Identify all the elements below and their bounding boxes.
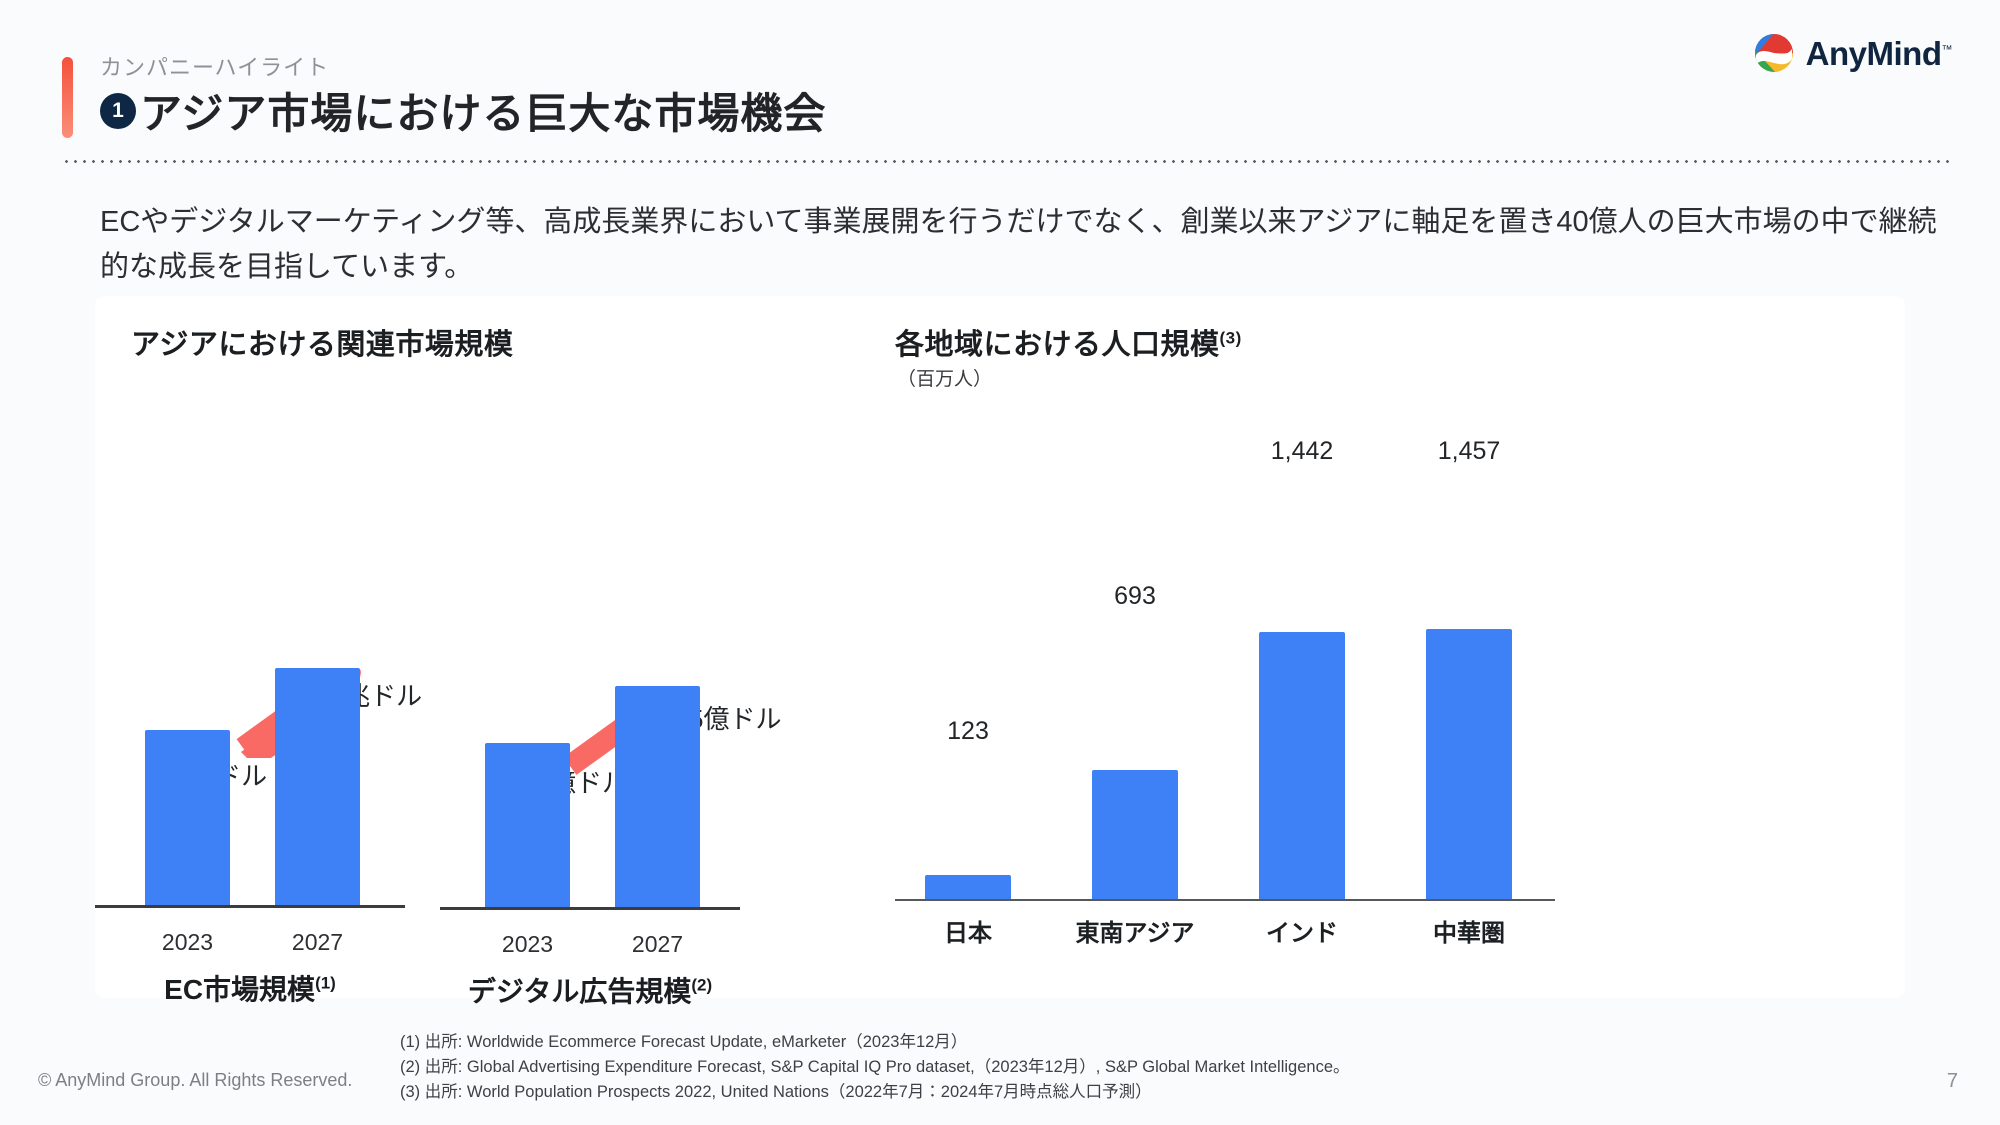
page-title-text: アジア市場における巨大な市場機会 bbox=[140, 80, 826, 141]
chart-caption-text: EC市場規模 bbox=[164, 974, 315, 1005]
x-tick-label: インド bbox=[1249, 913, 1355, 948]
footnote-item: (2) 出所: Global Advertising Expenditure F… bbox=[400, 1055, 1350, 1080]
slide-root: カンパニーハイライト 1 アジア市場における巨大な市場機会 AnyMind™ bbox=[0, 0, 2000, 1125]
page-number: 7 bbox=[1947, 1070, 1958, 1093]
section-number-badge: 1 bbox=[100, 93, 136, 129]
x-tick-label: 東南アジア bbox=[1072, 913, 1198, 948]
header-divider bbox=[62, 160, 1952, 163]
chart-population-by-region: 123 693 1,442 1,457 日本 東南アジア インド 中華圏 bbox=[895, 376, 1655, 996]
bar-2027 bbox=[615, 686, 700, 908]
page-title: 1 アジア市場における巨大な市場機会 bbox=[100, 80, 826, 141]
chart-caption: EC市場規模(1) bbox=[95, 968, 405, 1008]
anymind-logo-text: AnyMind™ bbox=[1806, 37, 1952, 70]
footnote-item: (1) 出所: Worldwide Ecommerce Forecast Upd… bbox=[400, 1030, 1350, 1055]
bar-southeast-asia bbox=[1092, 770, 1178, 899]
lead-paragraph: ECやデジタルマーケティング等、高成長業界において事業展開を行うだけでなく、創業… bbox=[100, 200, 1940, 290]
bar-india bbox=[1259, 632, 1345, 899]
x-tick-label: 2027 bbox=[275, 929, 360, 956]
x-tick-label: 2027 bbox=[615, 931, 700, 958]
chart-caption-superscript: (2) bbox=[691, 976, 712, 995]
content-card: アジアにおける関連市場規模 各地域における人口規模(3) （百万人） 3.5兆ド… bbox=[95, 296, 1905, 998]
x-axis-line bbox=[95, 905, 405, 908]
chart-ec-market-size: 3.5兆ドル 4.8兆ドル 2023 2027 EC市場規模(1) bbox=[95, 296, 455, 996]
bar-value-label: 123 bbox=[913, 717, 1023, 746]
x-tick-label: 2023 bbox=[145, 929, 230, 956]
bar-greater-china bbox=[1426, 629, 1512, 899]
title-accent-bar bbox=[62, 57, 73, 138]
chart-digital-ad-size: 2,115億ドル 2,765億ドル 2023 2027 デジタル広告規模(2) bbox=[440, 296, 800, 996]
bar-value-label: 1,457 bbox=[1414, 437, 1524, 466]
eyebrow-label: カンパニーハイライト bbox=[100, 50, 329, 82]
x-tick-label: 中華圏 bbox=[1416, 913, 1522, 948]
x-tick-label: 日本 bbox=[915, 913, 1021, 948]
copyright-text: © AnyMind Group. All Rights Reserved. bbox=[38, 1070, 352, 1091]
footnotes-list: (1) 出所: Worldwide Ecommerce Forecast Upd… bbox=[400, 1030, 1350, 1104]
bar-value-label: 1,442 bbox=[1247, 437, 1357, 466]
bar-2023 bbox=[485, 743, 570, 908]
bar-value-label: 693 bbox=[1080, 582, 1190, 611]
x-axis-line bbox=[895, 899, 1555, 901]
chart-caption-superscript: (1) bbox=[315, 974, 336, 993]
anymind-logo-mark-icon bbox=[1754, 33, 1794, 73]
right-panel-title-superscript: (3) bbox=[1220, 328, 1242, 347]
right-panel-title: 各地域における人口規模(3) bbox=[895, 321, 1242, 363]
footnote-item: (3) 出所: World Population Prospects 2022,… bbox=[400, 1080, 1350, 1105]
chart-caption-text: デジタル広告規模 bbox=[468, 976, 691, 1007]
bar-2023 bbox=[145, 730, 230, 906]
x-axis-line bbox=[440, 907, 740, 910]
bar-2027 bbox=[275, 668, 360, 906]
anymind-logo: AnyMind™ bbox=[1754, 33, 1952, 73]
right-panel-title-text: 各地域における人口規模 bbox=[895, 329, 1220, 361]
chart-caption: デジタル広告規模(2) bbox=[440, 970, 740, 1010]
trademark-symbol: ™ bbox=[1942, 44, 1953, 56]
x-tick-label: 2023 bbox=[485, 931, 570, 958]
bar-japan bbox=[925, 875, 1011, 899]
